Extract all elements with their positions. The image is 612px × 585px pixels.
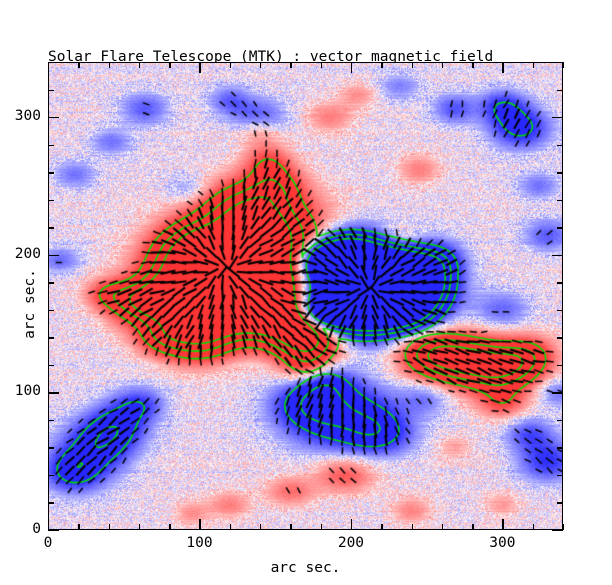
x-tick-top [351,62,352,73]
x-tick-top [48,62,49,73]
y-tick-right [557,420,563,421]
y-tick-label: 0 [32,522,41,537]
figure-root: Solar Flare Telescope (MTK) : vector mag… [0,0,612,585]
y-tick-label: 300 [15,109,41,124]
x-tick-label: 100 [186,536,212,551]
y-tick-left [48,62,54,63]
x-tick-top [260,62,261,68]
y-tick-right [557,447,563,448]
y-tick-left [48,530,59,531]
x-tick-bottom [502,519,503,530]
y-tick-right [557,502,563,503]
x-tick-label: 200 [338,536,364,551]
x-tick-bottom [351,519,352,530]
y-tick-left [48,117,59,118]
y-tick-left [48,365,54,366]
x-tick-top [381,62,382,68]
y-tick-right [552,255,563,256]
y-tick-right [557,90,563,91]
x-tick-bottom [472,524,473,530]
x-tick-bottom [442,524,443,530]
x-tick-top [412,62,413,68]
x-tick-bottom [563,524,564,530]
y-tick-right [557,475,563,476]
y-tick-right [557,310,563,311]
x-tick-bottom [199,519,200,530]
x-tick-bottom [109,524,110,530]
y-tick-label: 100 [15,384,41,399]
y-tick-left [48,90,54,91]
y-tick-left [48,310,54,311]
y-tick-left [48,282,54,283]
y-tick-right [557,282,563,283]
x-tick-top [533,62,534,68]
x-tick-bottom [381,524,382,530]
y-tick-left [48,172,54,173]
x-tick-bottom [260,524,261,530]
x-tick-label: 300 [489,536,515,551]
y-tick-right [557,145,563,146]
y-axis-title: arc sec. [22,244,38,364]
magnetogram-plot-area [48,62,563,530]
x-tick-top [169,62,170,68]
x-tick-bottom [78,524,79,530]
y-tick-right [557,200,563,201]
x-tick-bottom [48,519,49,530]
y-tick-right [557,365,563,366]
y-tick-right [552,117,563,118]
transverse-vector-layer [48,62,563,530]
y-tick-right [552,530,563,531]
y-tick-left [48,475,54,476]
y-tick-left [48,145,54,146]
y-tick-right [557,227,563,228]
x-tick-bottom [533,524,534,530]
y-tick-left [48,447,54,448]
x-tick-top [109,62,110,68]
x-tick-label: 0 [44,536,53,551]
x-tick-top [199,62,200,73]
x-tick-bottom [139,524,140,530]
x-tick-bottom [169,524,170,530]
x-tick-top [290,62,291,68]
x-tick-top [139,62,140,68]
x-tick-top [563,62,564,68]
x-axis-title: arc sec. [48,560,563,576]
y-tick-right [557,172,563,173]
x-tick-top [230,62,231,68]
y-tick-right [557,62,563,63]
y-tick-left [48,337,54,338]
y-tick-left [48,420,54,421]
x-tick-top [472,62,473,68]
x-tick-bottom [321,524,322,530]
x-tick-bottom [290,524,291,530]
x-tick-bottom [230,524,231,530]
x-tick-top [78,62,79,68]
x-tick-bottom [412,524,413,530]
x-tick-top [502,62,503,73]
y-tick-left [48,227,54,228]
y-tick-left [48,255,59,256]
x-tick-top [321,62,322,68]
y-tick-left [48,502,54,503]
y-tick-left [48,392,59,393]
y-tick-right [552,392,563,393]
y-tick-left [48,200,54,201]
y-tick-right [557,337,563,338]
x-tick-top [442,62,443,68]
